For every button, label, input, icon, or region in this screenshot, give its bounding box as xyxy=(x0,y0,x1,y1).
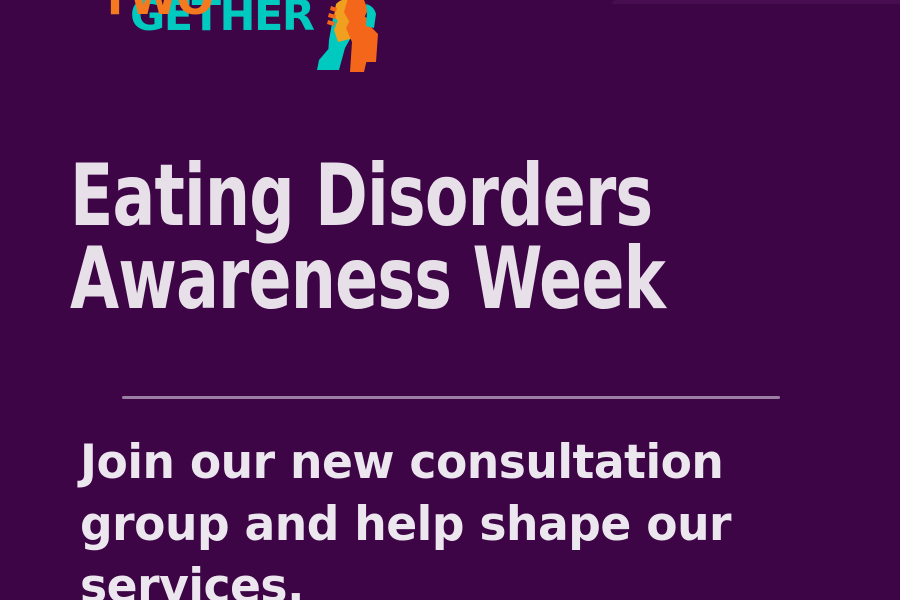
headline-line-2: Awareness Week xyxy=(70,238,718,321)
body-line-1: Join our new consultation xyxy=(80,432,856,494)
top-edge-artifact xyxy=(612,0,900,4)
body-line-2: group and help shape our xyxy=(80,494,856,556)
page-title: Eating Disorders Awareness Week xyxy=(70,155,860,322)
two-figures-embracing-icon xyxy=(312,0,392,74)
eating-disorders-awareness-poster: TWO GETHER xyxy=(0,0,900,600)
twogether-logo[interactable]: TWO GETHER xyxy=(96,0,516,74)
body-line-3: services. xyxy=(80,556,856,600)
logo-word-two: TWO xyxy=(100,0,213,22)
divider xyxy=(122,396,780,399)
body-copy: Join our new consultation group and help… xyxy=(80,432,880,600)
headline-line-1: Eating Disorders xyxy=(70,155,718,238)
